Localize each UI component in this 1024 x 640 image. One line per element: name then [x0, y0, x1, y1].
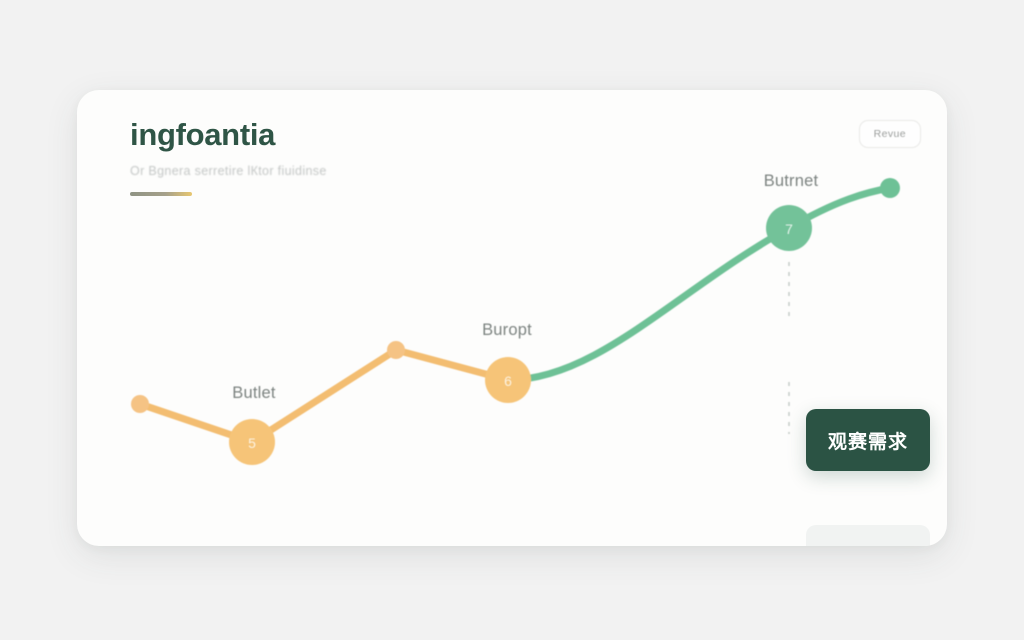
data-point-end[interactable] [880, 178, 900, 198]
data-point-butlet[interactable] [229, 419, 275, 465]
chart-card: ingfoantia Or Bgnera serretire lКtor fiu… [77, 90, 947, 546]
callout-secondary[interactable]: Ado加体验 [806, 525, 930, 546]
line-chart [77, 90, 947, 546]
data-point-butrnet[interactable] [766, 205, 812, 251]
data-point-butrnet-label: Butrnet [764, 172, 819, 191]
data-point-buropt-label: Buropt [482, 321, 532, 340]
callout-primary-label: 观赛需求 [828, 427, 908, 454]
callout-primary[interactable]: 观赛需求 [806, 409, 930, 471]
orange-line-path [140, 350, 508, 442]
data-point-buropt[interactable] [485, 357, 531, 403]
green-line-path [508, 188, 890, 380]
data-point-peak[interactable] [387, 341, 405, 359]
screenshot-root: ingfoantia Or Bgnera serretire lКtor fiu… [0, 0, 1024, 640]
data-point-start[interactable] [131, 395, 149, 413]
callout-secondary-label: Ado加体验 [826, 542, 910, 547]
data-point-butlet-label: Butlet [232, 384, 275, 403]
